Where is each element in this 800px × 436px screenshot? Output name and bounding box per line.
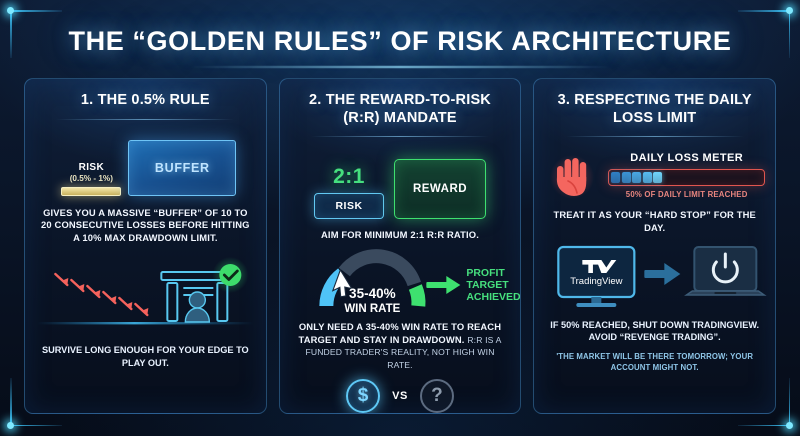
panel-rule-1: 1. THE 0.5% RULE RISK (0.5% - 1%) BUFFER… <box>24 78 267 414</box>
green-arrow-right-icon <box>426 276 460 294</box>
panel-2-divider <box>311 136 489 137</box>
arrow-right-icon <box>645 263 681 285</box>
panel-rule-2: 2. THE REWARD-TO-RISK (R:R) MANDATE 2:1 … <box>279 78 522 414</box>
meter-column: DAILY LOSS METER 50% OF DAILY LIMIT REAC… <box>608 152 765 199</box>
green-check-badge-icon <box>219 264 241 286</box>
gauge-svg: PROFIT TARGET ACHIEVED 35-40% WIN RATE <box>280 248 521 316</box>
risk-side: 2:1 RISK <box>314 166 384 219</box>
panel-2-title: 2. THE REWARD-TO-RISK (R:R) MANDATE <box>290 92 511 127</box>
meter-segment <box>643 172 652 183</box>
outcome-line-1: PROFIT <box>466 267 505 279</box>
ground-line <box>37 322 253 324</box>
hand-icon-wrap <box>544 151 600 199</box>
buffer-box: BUFFER <box>128 140 236 196</box>
panel-1-footer: SURVIVE LONG ENOUGH FOR YOUR EDGE TO PLA… <box>25 344 266 369</box>
title-underline <box>190 66 610 68</box>
risk-label: RISK <box>54 162 128 173</box>
panels-container: 1. THE 0.5% RULE RISK (0.5% - 1%) BUFFER… <box>24 78 776 414</box>
meter-segment <box>632 172 641 183</box>
panel-3-divider <box>566 136 744 137</box>
panel-3-footer: IF 50% REACHED, SHUT DOWN TRADINGVIEW. A… <box>534 319 775 344</box>
panel-1-title: 1. THE 0.5% RULE <box>35 92 256 110</box>
gauge-segment-gray <box>344 256 414 284</box>
vs-label: VS <box>392 390 408 402</box>
panel-3-title: 3. RESPECTING THE DAILY LOSS LIMIT <box>544 92 765 127</box>
risk-buffer-chart: RISK (0.5% - 1%) BUFFER <box>25 134 266 196</box>
ratio-value: 2:1 <box>333 166 365 187</box>
stop-hand-icon <box>550 151 594 199</box>
infographic-canvas: THE “GOLDEN RULES” OF RISK ARCHITECTURE … <box>0 0 800 436</box>
panel-2-description: ONLY NEED A 35-40% WIN RATE TO REACH TAR… <box>280 321 521 371</box>
panel-rule-3: 3. RESPECTING THE DAILY LOSS LIMIT <box>533 78 776 414</box>
tradingview-monitor-icon: TradingView <box>559 247 635 307</box>
gauge-outcome-label: PROFIT TARGET ACHIEVED <box>466 267 520 303</box>
meter-segment <box>622 172 631 183</box>
person-silhouette-icon <box>185 292 209 322</box>
page-title: THE “GOLDEN RULES” OF RISK ARCHITECTURE <box>0 26 800 57</box>
gauge-segment-green <box>415 287 418 306</box>
compare-row: $ VS ? <box>280 379 521 413</box>
panel-1-divider <box>56 119 234 120</box>
risk-range-label: (0.5% - 1%) <box>54 174 128 183</box>
panel-2-aim-text: AIM FOR MINIMUM 2:1 R:R RATIO. <box>280 229 521 242</box>
risk-box: RISK <box>314 193 384 219</box>
win-rate-gauge: PROFIT TARGET ACHIEVED 35-40% WIN RATE <box>280 248 521 316</box>
panel-3-description: TREAT IT AS YOUR “HARD STOP” FOR THE DAY… <box>534 209 775 234</box>
risk-bar <box>61 187 121 196</box>
gauge-value-sublabel: WIN RATE <box>344 303 400 315</box>
panel-3-quote: 'THE MARKET WILL BE THERE TOMORROW; YOUR… <box>534 352 775 374</box>
reward-risk-chart: 2:1 RISK REWARD <box>280 153 521 219</box>
gauge-value: 35-40% <box>349 286 396 301</box>
panel-1-description: GIVES YOU A MASSIVE “BUFFER” OF 10 TO 20… <box>25 207 266 245</box>
illustration-svg <box>25 250 266 336</box>
shutdown-illustration-svg: TradingView <box>534 239 775 315</box>
dollar-circle-icon: $ <box>346 379 380 413</box>
meter-segment <box>653 172 662 183</box>
meter-title: DAILY LOSS METER <box>608 152 765 164</box>
outcome-line-2: TARGET <box>466 279 509 291</box>
meter-track <box>608 169 765 186</box>
meter-segment <box>611 172 620 183</box>
descending-red-arrows-icon <box>55 274 148 315</box>
laptop-power-off-icon <box>687 247 765 295</box>
reward-box: REWARD <box>394 159 486 219</box>
outcome-line-3: ACHIEVED <box>466 291 520 303</box>
question-circle-icon: ? <box>420 379 454 413</box>
panel-1-illustration <box>25 250 266 336</box>
panel-3-illustration: TradingView <box>534 239 775 315</box>
risk-column: RISK (0.5% - 1%) <box>54 162 128 196</box>
daily-loss-meter-row: DAILY LOSS METER 50% OF DAILY LIMIT REAC… <box>544 151 765 199</box>
tradingview-brand-label: TradingView <box>571 276 623 287</box>
meter-note: 50% OF DAILY LIMIT REACHED <box>608 190 765 199</box>
